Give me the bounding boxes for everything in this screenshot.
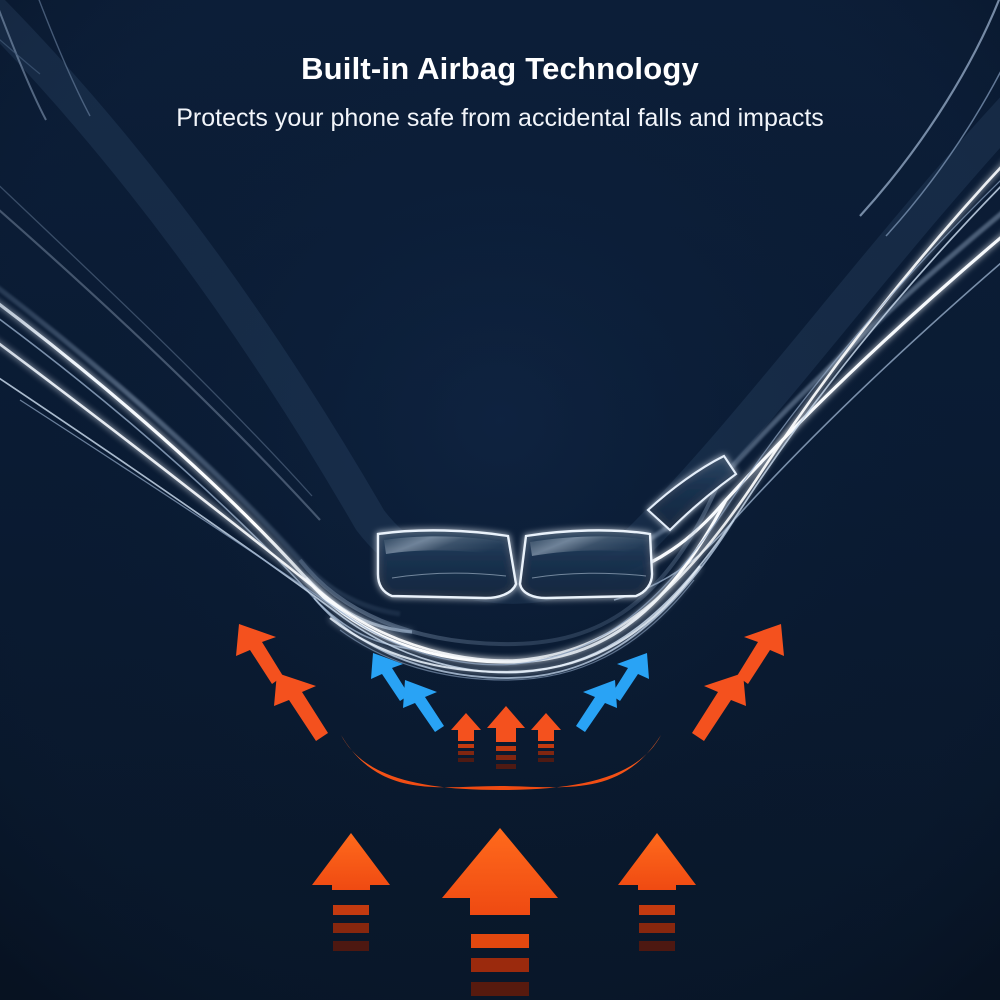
page-subtitle: Protects your phone safe from accidental… bbox=[0, 102, 1000, 134]
impact-arrows-layer bbox=[0, 0, 1000, 1000]
arrow-up-icon bbox=[312, 833, 390, 951]
arrow-up-icon bbox=[618, 833, 696, 951]
corner-deflection-arrows-right bbox=[692, 624, 784, 741]
inner-deflection-arrows-right bbox=[576, 653, 649, 732]
arrow-up-icon bbox=[451, 713, 481, 762]
arrow-up-left-icon bbox=[371, 653, 409, 701]
arrow-up-left-icon bbox=[403, 680, 444, 732]
inner-deflection-arrows-left bbox=[371, 653, 444, 732]
airbag-technology-banner: Built-in Airbag Technology Protects your… bbox=[0, 0, 1000, 1000]
arrow-up-icon bbox=[442, 828, 558, 996]
corner-deflection-arrows-left bbox=[236, 624, 328, 741]
arrow-up-right-icon bbox=[737, 624, 784, 684]
arrow-up-left-icon bbox=[274, 673, 328, 741]
arrow-up-right-icon bbox=[692, 673, 746, 741]
small-impact-arrows bbox=[451, 706, 561, 769]
large-impact-arrows bbox=[312, 828, 696, 996]
arrow-up-right-icon bbox=[576, 680, 617, 732]
arrow-up-icon bbox=[531, 713, 561, 762]
page-title: Built-in Airbag Technology bbox=[0, 50, 1000, 88]
arrow-up-left-icon bbox=[236, 624, 283, 684]
shock-absorption-arc bbox=[341, 735, 661, 790]
arrow-up-right-icon bbox=[611, 653, 649, 701]
arrow-up-icon bbox=[487, 706, 525, 769]
